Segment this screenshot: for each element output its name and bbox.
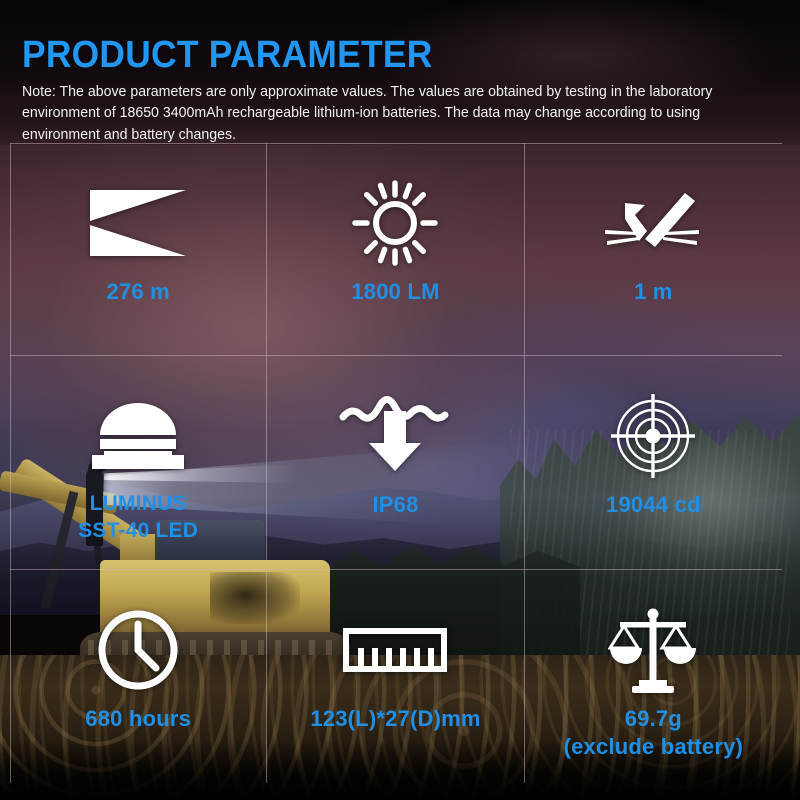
foreground-content: PRODUCT PARAMETER Note: The above parame… [0,0,800,800]
ruler-dimensions-icon [343,596,447,704]
spec-grid: 276 m [10,143,782,783]
spec-value-secondary: (exclude battery) [564,734,743,760]
beam-intensity-target-icon [606,382,700,490]
led-chip-icon [82,382,194,490]
spec-value: LUMINUS [90,492,187,517]
waterproof-icon [337,382,453,490]
spec-cell-brightness[interactable]: 1800 LM [267,143,524,356]
spec-cell-impact-resistance[interactable]: 1 m [525,143,782,356]
spec-cell-led[interactable]: LUMINUS SST-40 LED [10,356,267,569]
sun-brightness-icon [350,169,440,277]
spec-cell-waterproof[interactable]: IP68 [267,356,524,569]
weight-scale-icon [608,596,698,704]
beam-distance-icon [86,169,190,277]
product-parameter-infographic: PRODUCT PARAMETER Note: The above parame… [0,0,800,800]
spec-value: 123(L)*27(D)mm [310,706,480,732]
spec-value: 69.7g [625,706,682,732]
spec-cell-runtime[interactable]: 680 hours [10,570,267,783]
spec-cell-weight[interactable]: 69.7g (exclude battery) [525,570,782,783]
spec-cell-beam-distance[interactable]: 276 m [10,143,267,356]
page-title: PRODUCT PARAMETER [22,36,433,74]
spec-cell-beam-intensity[interactable]: 19044 cd [525,356,782,569]
clock-runtime-icon [94,596,182,704]
spec-value: 680 hours [85,706,191,732]
spec-value: 276 m [106,279,169,305]
spec-cell-dimensions[interactable]: 123(L)*27(D)mm [267,570,524,783]
spec-value: IP68 [372,492,418,518]
spec-value: 1 m [634,279,673,305]
impact-resistance-icon [599,169,707,277]
spec-value: 19044 cd [606,492,701,518]
spec-value: 1800 LM [351,279,439,305]
spec-value-secondary: SST-40 LED [78,519,198,544]
disclaimer-note: Note: The above parameters are only appr… [22,82,713,146]
